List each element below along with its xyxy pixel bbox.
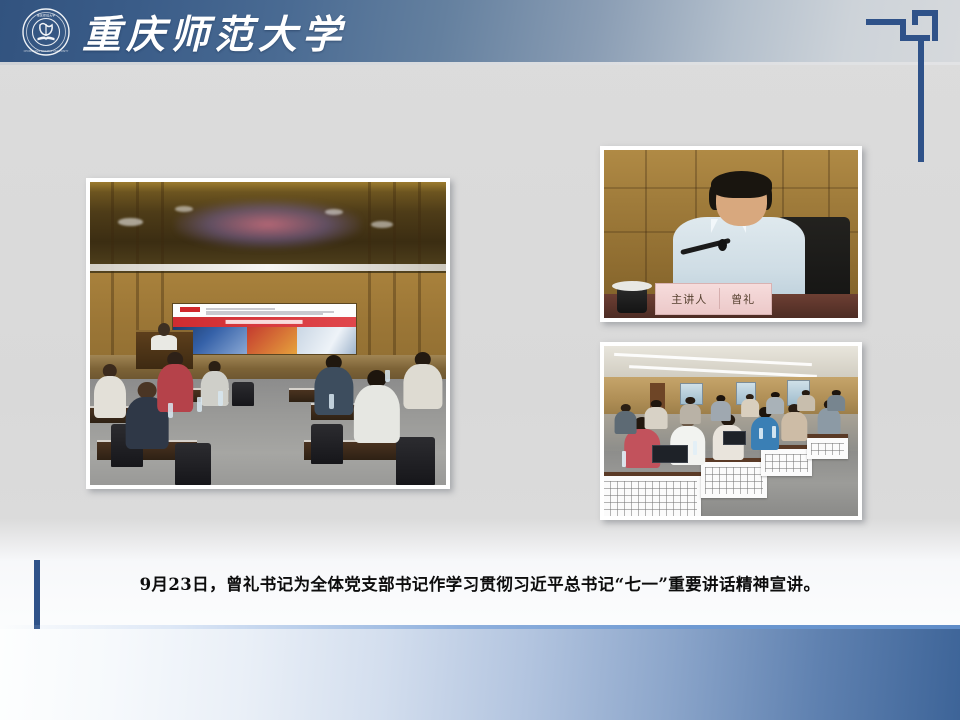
attendee	[645, 400, 668, 429]
attendee	[314, 355, 353, 416]
attendee	[797, 390, 815, 410]
attendee	[200, 361, 228, 406]
photo-speaker: 主讲人 曾礼	[600, 146, 862, 322]
attendee	[680, 397, 700, 424]
attendee	[741, 394, 759, 418]
caption-area: 9月23日，曾礼书记为全体党支部书记作学习贯彻习近平总书记“七一”重要讲话精神宣…	[0, 540, 960, 626]
photo-audience	[600, 342, 862, 520]
attendee	[767, 392, 785, 414]
nameplate-role: 主讲人	[671, 291, 707, 307]
nameplate-name: 曾礼	[731, 291, 755, 307]
photo-audience-image	[604, 346, 858, 516]
photo-meeting-room-image	[90, 182, 446, 485]
attendee	[614, 404, 637, 435]
attendee	[828, 390, 846, 410]
university-name-title: 重庆师范大学	[82, 6, 346, 58]
attendee	[711, 395, 731, 421]
attendee	[403, 352, 442, 410]
university-seal-icon: 重庆师范大学 CHONGQING NORMAL UNIVERSITY	[22, 8, 70, 56]
attendee	[94, 364, 126, 419]
photo-speaker-image: 主讲人 曾礼	[604, 150, 858, 318]
presentation-slide: 重庆师范大学 CHONGQING NORMAL UNIVERSITY 重庆师范大…	[0, 0, 960, 720]
corner-ornament-top-right-icon	[866, 10, 938, 162]
led-presentation-screen	[172, 303, 357, 355]
attendee	[353, 370, 399, 443]
svg-text:重庆师范大学: 重庆师范大学	[37, 12, 56, 17]
laptop	[723, 431, 746, 445]
nameplate-divider	[719, 288, 720, 309]
svg-text:CHONGQING NORMAL UNIVERSITY: CHONGQING NORMAL UNIVERSITY	[24, 49, 69, 53]
laptop	[652, 445, 688, 464]
slide-footer	[0, 629, 960, 720]
attendee	[158, 352, 194, 413]
slide-caption: 9月23日，曾礼书记为全体党支部书记作学习贯彻习近平总书记“七一”重要讲话精神宣…	[140, 571, 821, 595]
header-underline	[0, 62, 960, 65]
speaker-nameplate: 主讲人 曾礼	[655, 283, 772, 315]
photo-meeting-room	[86, 178, 450, 489]
